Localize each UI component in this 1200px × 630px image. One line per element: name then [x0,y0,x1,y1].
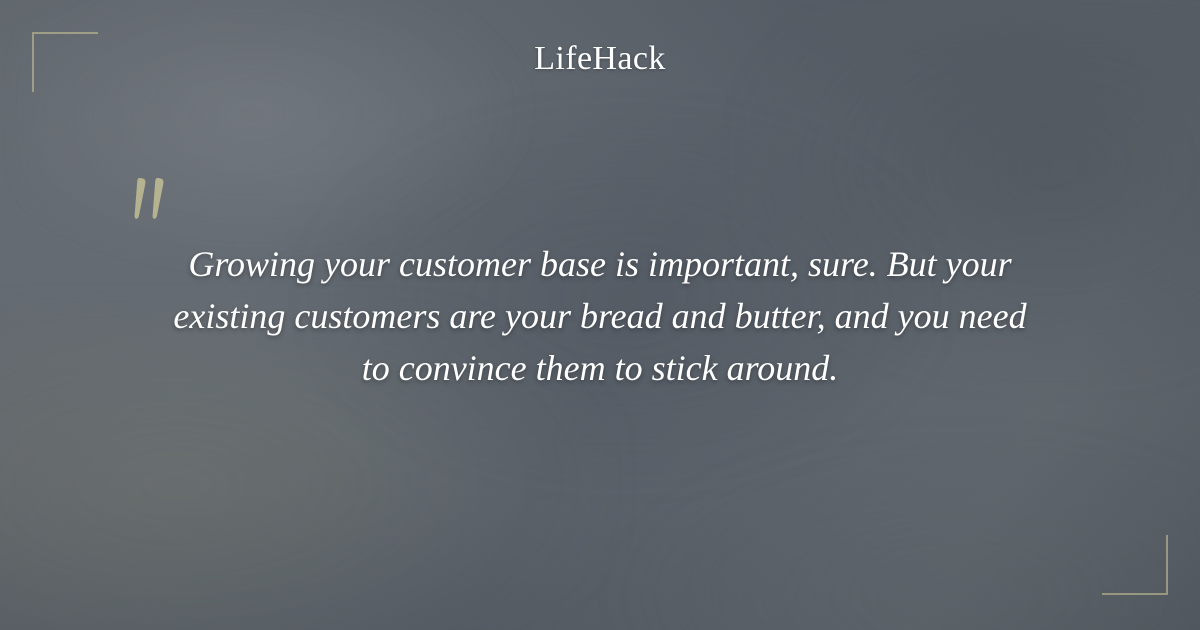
brand-name: LifeHack [534,40,666,78]
corner-bracket-bottom-right-icon [1102,535,1168,595]
quote-container: Growing your customer base is important,… [90,238,1110,394]
quote-line: Growing your customer base is important,… [90,238,1110,290]
quote-line: existing customers are your bread and bu… [90,290,1110,342]
quote-mark-icon [131,178,177,220]
quote-line: to convince them to stick around. [90,342,1110,394]
quote-text: Growing your customer base is important,… [90,238,1110,394]
quote-card: LifeHack Growing your customer base is i… [0,0,1200,630]
brand-logo: LifeHack [0,40,1200,78]
